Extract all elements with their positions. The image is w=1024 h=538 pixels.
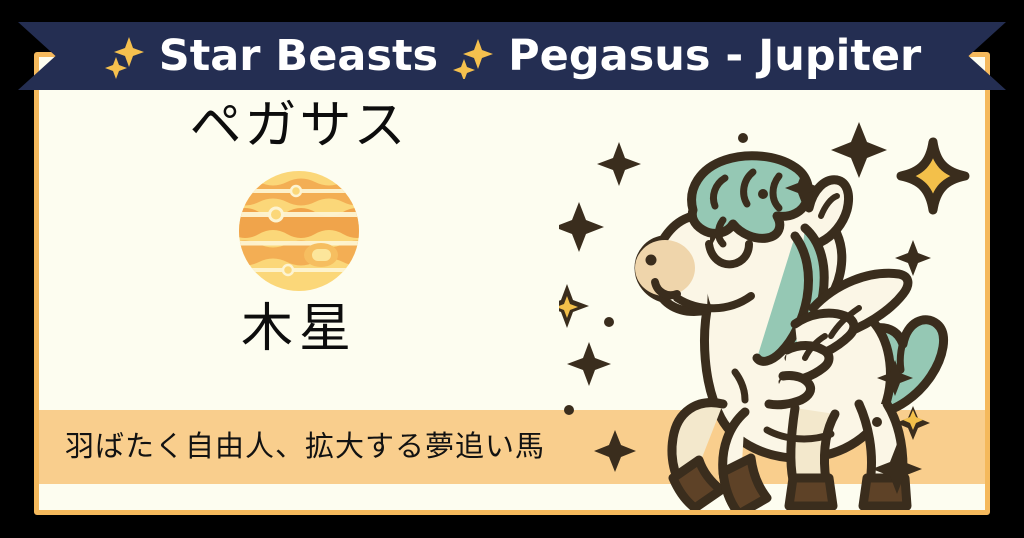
banner-title-left: Star Beasts — [159, 35, 438, 78]
pegasus-illustration — [559, 112, 990, 512]
planet-icon-wrapper — [119, 168, 479, 294]
pegasus-hoof-back-far — [789, 478, 833, 506]
sparkle-icon — [594, 430, 636, 472]
pegasus-nostril — [646, 255, 657, 266]
sparkle-icon — [567, 342, 611, 386]
dot-icon — [872, 417, 882, 427]
sparkle-icon — [452, 33, 494, 79]
creature-name-katakana: ペガサス — [119, 99, 479, 154]
sparkle-icon — [831, 122, 887, 178]
creature-card: ペガサス — [34, 52, 990, 515]
banner-title-right: Pegasus - Jupiter — [508, 35, 921, 78]
pegasus-hoof-front-near — [723, 458, 767, 512]
pegasus-muzzle — [635, 240, 695, 296]
dot-icon — [758, 189, 768, 199]
creature-info-column: ペガサス — [119, 99, 479, 356]
sparkle-icon — [559, 202, 604, 252]
planet-name-kanji: 木星 — [119, 302, 479, 357]
dot-icon — [604, 317, 614, 327]
dot-icon — [564, 405, 574, 415]
jupiter-planet-icon — [236, 168, 362, 294]
gold-star-icon — [901, 142, 965, 210]
title-banner: Star Beasts Pegasus - Jupiter — [18, 22, 1006, 90]
banner-content: Star Beasts Pegasus - Jupiter — [18, 22, 1006, 90]
sparkle-icon — [597, 142, 641, 186]
caption-text: 羽ばたく自由人、拡大する夢追い馬 — [65, 423, 545, 465]
dot-icon — [738, 133, 748, 143]
screenshot-root: ペガサス — [0, 0, 1024, 538]
sparkle-icon — [103, 33, 145, 79]
